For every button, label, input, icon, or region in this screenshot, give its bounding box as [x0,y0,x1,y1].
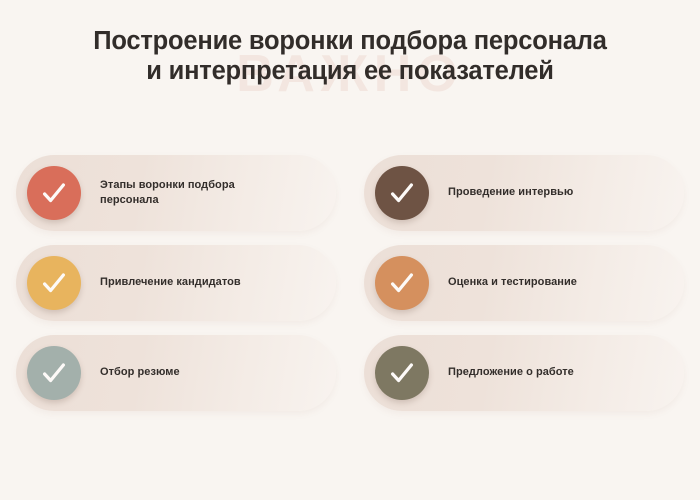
card-attraction-badge [27,256,81,310]
card-assessment[interactable]: Оценка и тестирование [364,245,684,321]
card-offer[interactable]: Предложение о работе [364,335,684,411]
card-stages-badge [27,166,81,220]
card-attraction-label: Привлечение кандидатов [81,275,336,291]
title-line-1: Построение воронки подбора персонала [0,26,700,56]
card-interview[interactable]: Проведение интервью [364,155,684,231]
card-interview-badge [375,166,429,220]
check-icon [39,358,69,388]
title-line-2: и интерпретация ее показателей [0,56,700,86]
check-icon [387,358,417,388]
card-interview-label: Проведение интервью [429,185,684,201]
card-stages-label: Этапы воронки подбора персонала [81,178,276,209]
page-title: Построение воронки подбора персонала и и… [0,26,700,86]
card-assessment-badge [375,256,429,310]
card-stages[interactable]: Этапы воронки подбора персонала [16,155,336,231]
card-assessment-label: Оценка и тестирование [429,275,684,291]
card-offer-label: Предложение о работе [429,365,684,381]
infographic-slide: ВАЖНО Построение воронки подбора персона… [0,0,700,500]
card-screening[interactable]: Отбор резюме [16,335,336,411]
card-screening-label: Отбор резюме [81,365,336,381]
card-grid: Этапы воронки подбора персонала Проведен… [16,155,684,411]
check-icon [39,268,69,298]
check-icon [387,268,417,298]
card-attraction[interactable]: Привлечение кандидатов [16,245,336,321]
card-offer-badge [375,346,429,400]
check-icon [387,178,417,208]
check-icon [39,178,69,208]
card-screening-badge [27,346,81,400]
